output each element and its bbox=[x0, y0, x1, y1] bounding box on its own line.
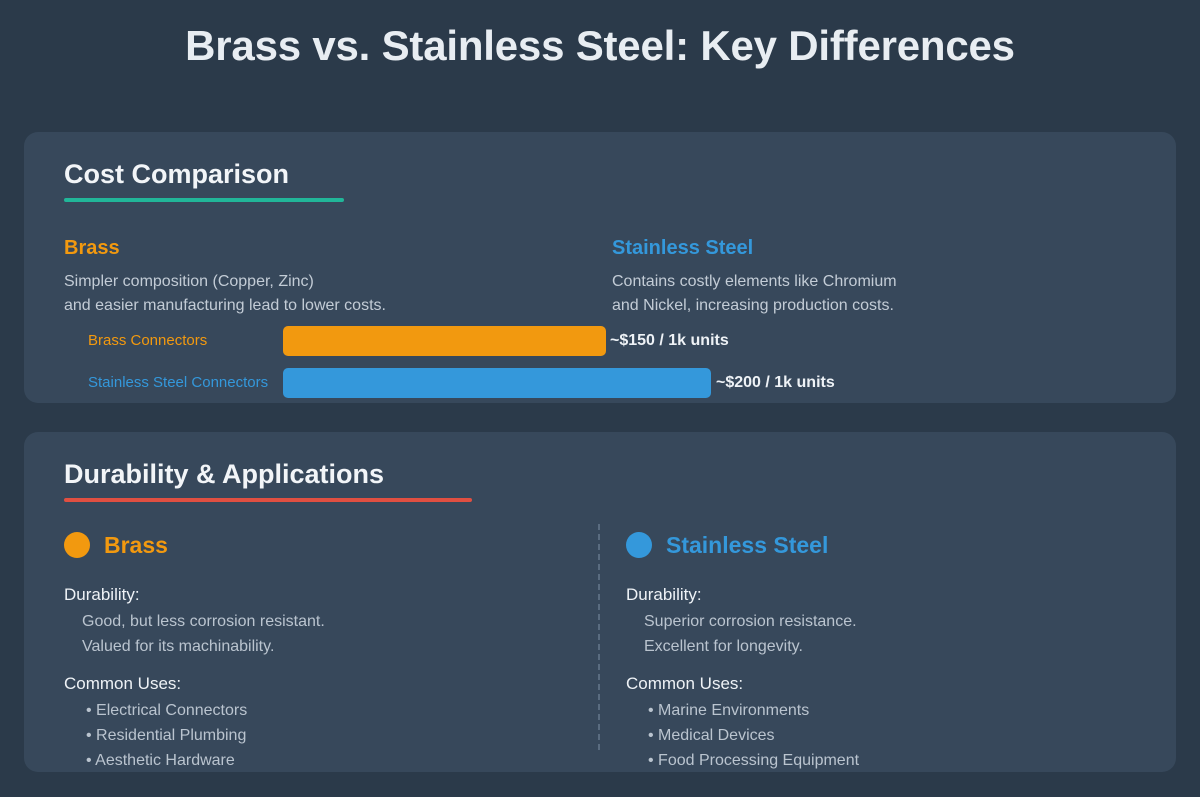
steel-durability-heading: Durability: bbox=[626, 582, 1126, 607]
bar-track-steel bbox=[283, 368, 711, 398]
steel-use-item-3: • Food Processing Equipment bbox=[648, 748, 1126, 773]
brass-use-item-1: • Electrical Connectors bbox=[86, 698, 564, 723]
cost-brass-name: Brass bbox=[64, 236, 584, 260]
brass-durability-line-2: Valued for its machinability. bbox=[82, 634, 564, 659]
brass-durability-heading: Durability: bbox=[64, 582, 564, 607]
bar-track-brass bbox=[283, 326, 606, 356]
steel-uses-heading: Common Uses: bbox=[626, 671, 1126, 696]
brass-use-item-3: • Aesthetic Hardware bbox=[86, 748, 564, 773]
steel-use-item-2: • Medical Devices bbox=[648, 723, 1126, 748]
bar-fill-brass bbox=[283, 326, 606, 356]
bar-fill-steel bbox=[283, 368, 711, 398]
cost-steel-desc-line2: and Nickel, increasing production costs. bbox=[612, 294, 1132, 318]
page-title: Brass vs. Stainless Steel: Key Differenc… bbox=[0, 20, 1200, 72]
cost-steel-desc-line1: Contains costly elements like Chromium bbox=[612, 270, 1132, 294]
cost-brass-column: Brass Simpler composition (Copper, Zinc)… bbox=[64, 236, 584, 318]
durability-brass-column: Brass Durability: Good, but less corrosi… bbox=[64, 530, 564, 773]
steel-durability-line-2: Excellent for longevity. bbox=[644, 634, 1126, 659]
column-divider bbox=[598, 524, 600, 750]
steel-dot-icon bbox=[626, 532, 652, 558]
cost-brass-desc-line2: and easier manufacturing lead to lower c… bbox=[64, 294, 584, 318]
cost-brass-desc-line1: Simpler composition (Copper, Zinc) bbox=[64, 270, 584, 294]
bar-row-steel: Stainless Steel Connectors ~$200 / 1k un… bbox=[64, 368, 1136, 398]
bar-row-brass: Brass Connectors ~$150 / 1k units bbox=[64, 326, 1136, 356]
durability-steel-column: Stainless Steel Durability: Superior cor… bbox=[626, 530, 1126, 773]
steel-durability-line-1: Superior corrosion resistance. bbox=[644, 609, 1126, 634]
steel-use-item-1: • Marine Environments bbox=[648, 698, 1126, 723]
bar-label-steel: Stainless Steel Connectors bbox=[88, 373, 283, 393]
cost-steel-name: Stainless Steel bbox=[612, 236, 1132, 260]
bar-label-brass: Brass Connectors bbox=[88, 331, 283, 351]
brass-uses-heading: Common Uses: bbox=[64, 671, 564, 696]
durability-title-underline bbox=[64, 498, 472, 502]
durability-steel-header: Stainless Steel bbox=[626, 530, 1126, 560]
cost-comparison-title: Cost Comparison bbox=[64, 158, 289, 190]
durability-brass-name: Brass bbox=[104, 531, 168, 559]
durability-title: Durability & Applications bbox=[64, 458, 384, 490]
cost-steel-column: Stainless Steel Contains costly elements… bbox=[612, 236, 1132, 318]
brass-durability-line-1: Good, but less corrosion resistant. bbox=[82, 609, 564, 634]
bar-value-brass: ~$150 / 1k units bbox=[610, 330, 729, 352]
durability-applications-card: Durability & Applications Brass Durabili… bbox=[24, 432, 1176, 772]
durability-steel-name: Stainless Steel bbox=[666, 531, 828, 559]
bar-value-steel: ~$200 / 1k units bbox=[716, 372, 835, 394]
cost-comparison-card: Cost Comparison Brass Simpler compositio… bbox=[24, 132, 1176, 403]
cost-title-underline bbox=[64, 198, 344, 202]
durability-brass-header: Brass bbox=[64, 530, 564, 560]
brass-dot-icon bbox=[64, 532, 90, 558]
brass-use-item-2: • Residential Plumbing bbox=[86, 723, 564, 748]
